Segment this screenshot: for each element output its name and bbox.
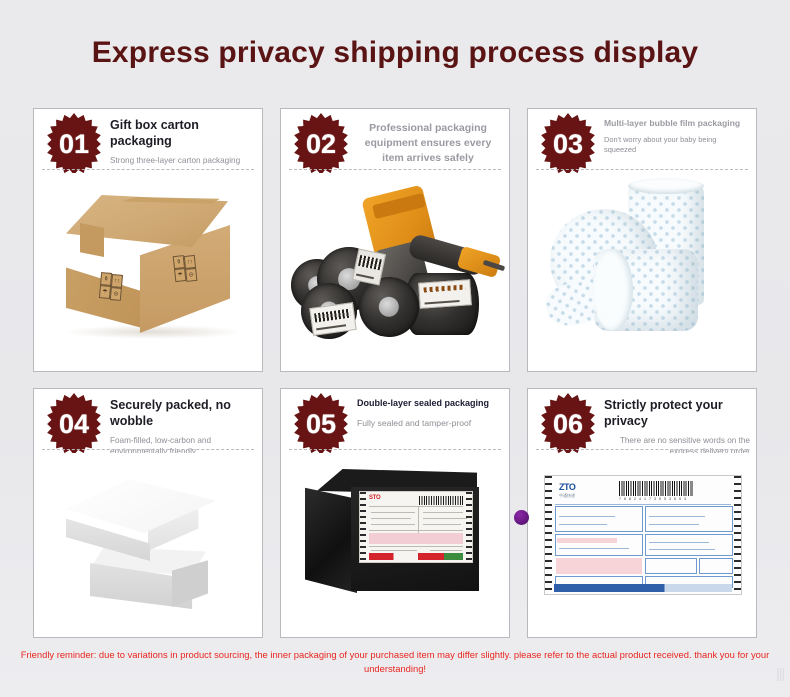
waybill-field-line — [559, 524, 607, 525]
product-photo-bubble-wrap — [528, 173, 756, 371]
header-divider — [289, 169, 501, 170]
barcode-icon — [314, 308, 350, 322]
waybill-perforation-right — [734, 476, 741, 594]
product-label — [309, 302, 356, 336]
footer-disclaimer: Friendly reminder: due to variations in … — [12, 648, 778, 675]
barcode-number: 7 6 8 2 4 1 7 3 5 5 3 6 5 3 — [619, 497, 687, 501]
carrier-logo-zto: ZTO — [559, 482, 575, 492]
coil-nail-roll — [359, 277, 419, 337]
waybill-rule — [555, 504, 731, 505]
waybill-field-line — [559, 516, 615, 517]
waybill-footer-band — [554, 584, 732, 592]
notice-band — [556, 558, 642, 574]
waybill-footer-band — [369, 553, 463, 560]
card-header: 03 Multi-layer bubble film packaging Don… — [528, 109, 756, 172]
waybill-rule — [369, 530, 463, 531]
foam-blocks-illustration — [52, 463, 248, 621]
card-header: 01 Gift box carton packaging Strong thre… — [34, 109, 262, 172]
product-photo-zto-waybill: ZTO 中通快递 7 6 8 2 4 1 7 3 5 5 3 6 5 3 — [528, 453, 756, 637]
card-subtitle: Don't worry about your baby being squeez… — [604, 135, 750, 155]
card-title: Strictly protect your privacy — [604, 398, 750, 429]
step-number-badge-05: 05 — [290, 393, 352, 455]
step-number-badge-01: 01 — [43, 113, 105, 175]
infographic-page: Express privacy shipping process display… — [0, 0, 790, 697]
card-title: Securely packed, no wobble — [110, 398, 256, 429]
waybill-perforation-left — [360, 492, 366, 562]
product-photo-carton-box: ⚱ ↑↑ ☂ ⊝ ⚱ ↑↑ ☂ ⊝ — [34, 173, 262, 371]
waybill-field-line — [649, 524, 699, 525]
label-line — [317, 325, 346, 331]
process-card-06[interactable]: 06 Strictly protect your privacy There a… — [527, 388, 757, 638]
card-title: Gift box carton packaging — [110, 118, 256, 149]
waybill-rule — [369, 506, 463, 507]
step-number-badge-03: 03 — [537, 113, 599, 175]
header-divider — [536, 169, 748, 170]
card-subtitle: Strong three-layer carton packaging — [110, 155, 256, 166]
step-number-label: 01 — [59, 131, 89, 158]
waybill-perforation-left — [545, 476, 552, 594]
waybill-field-line — [423, 518, 467, 519]
card-header: 04 Securely packed, no wobble Foam-fille… — [34, 389, 262, 452]
warning-highlight — [557, 538, 617, 543]
header-divider — [536, 449, 748, 450]
waybill-field-line — [371, 518, 411, 519]
nail-gun-illustration — [287, 185, 505, 357]
card-title: Multi-layer bubble film packaging — [604, 118, 750, 129]
receiver-address-box — [645, 534, 733, 556]
decorative-purple-dot — [514, 510, 529, 525]
waybill-field-line — [649, 516, 705, 517]
step-number-label: 02 — [306, 131, 336, 158]
carrier-name-cn: 中通快递 — [559, 493, 575, 499]
card-header-text: Multi-layer bubble film packaging Don't … — [604, 118, 750, 155]
black-parcel-illustration: STO — [301, 469, 491, 601]
card-title: Professional packaging equipment ensures… — [353, 121, 503, 167]
step-number-badge-02: 02 — [290, 113, 352, 175]
header-divider — [289, 449, 501, 450]
process-card-02[interactable]: 02 Professional packaging equipment ensu… — [280, 108, 510, 372]
waybill-field-line — [371, 524, 415, 525]
step-number-label: 03 — [553, 131, 583, 158]
process-card-03[interactable]: 03 Multi-layer bubble film packaging Don… — [527, 108, 757, 372]
product-photo-black-parcel: STO — [281, 453, 509, 637]
header-divider — [42, 449, 254, 450]
sender-field-box — [555, 506, 643, 532]
handling-symbols-left: ⚱ ↑↑ ☂ ⊝ — [99, 272, 123, 300]
card-header: 05 Double-layer sealed packaging Fully s… — [281, 389, 509, 452]
product-label — [418, 279, 472, 309]
step-number-label: 05 — [306, 411, 336, 438]
barcode-icon — [358, 255, 381, 270]
process-card-grid: 01 Gift box carton packaging Strong thre… — [33, 108, 757, 638]
service-options-box — [645, 558, 697, 574]
waybill-sto: STO — [359, 491, 473, 563]
waybill-field-line — [559, 548, 629, 549]
card-row-2: 04 Securely packed, no wobble Foam-fille… — [33, 388, 757, 638]
waybill-zto: ZTO 中通快递 7 6 8 2 4 1 7 3 5 5 3 6 5 3 — [544, 475, 742, 595]
box-flap — [80, 223, 104, 257]
waybill-field-line — [430, 550, 462, 551]
waybill-field-line — [423, 524, 461, 525]
waybill-notice-band — [369, 533, 463, 544]
coil-hub — [379, 297, 399, 317]
card-header-text: Professional packaging equipment ensures… — [353, 121, 503, 167]
no-stack-icon: ⊝ — [185, 268, 197, 282]
receiver-field-box — [645, 506, 733, 532]
page-title: Express privacy shipping process display — [0, 36, 790, 70]
card-header-text: Gift box carton packaging Strong three-l… — [110, 118, 256, 166]
bubble-roll-front — [594, 249, 698, 331]
waybill-perforation-right — [466, 492, 472, 562]
process-card-01[interactable]: 01 Gift box carton packaging Strong thre… — [33, 108, 263, 372]
bubble-wrap-illustration — [540, 179, 746, 361]
cardboard-box-illustration: ⚱ ↑↑ ☂ ⊝ ⚱ ↑↑ ☂ ⊝ — [48, 195, 248, 345]
roll-end-face — [593, 249, 633, 331]
product-photo-nail-gun — [281, 173, 509, 371]
barcode-icon — [419, 496, 463, 505]
label-line — [425, 300, 460, 304]
waybill-field-line — [423, 512, 463, 513]
process-card-04[interactable]: 04 Securely packed, no wobble Foam-fille… — [33, 388, 263, 638]
step-number-label: 04 — [59, 411, 89, 438]
waybill-field-line — [371, 512, 415, 513]
this-side-up-icon: ↑↑ — [184, 255, 196, 269]
watermark: ||| — [776, 665, 784, 681]
barcode-icon — [619, 481, 693, 496]
no-stack-icon: ⊝ — [110, 287, 122, 301]
step-number-badge-04: 04 — [43, 393, 105, 455]
this-side-up-icon: ↑↑ — [111, 274, 123, 288]
barcode-icon — [424, 285, 466, 293]
process-card-05[interactable]: 05 Double-layer sealed packaging Fully s… — [280, 388, 510, 638]
card-row-1: 01 Gift box carton packaging Strong thre… — [33, 108, 757, 372]
product-photo-foam-blocks — [34, 453, 262, 637]
card-subtitle: Fully sealed and tamper-proof — [357, 418, 503, 430]
card-header-text: Double-layer sealed packaging Fully seal… — [357, 398, 503, 430]
card-header: 02 Professional packaging equipment ensu… — [281, 109, 509, 172]
waybill-rule — [369, 546, 463, 547]
waybill-field-line — [649, 542, 709, 543]
card-header: 06 Strictly protect your privacy There a… — [528, 389, 756, 452]
parcel-left-face — [305, 481, 357, 593]
card-title: Double-layer sealed packaging — [357, 398, 503, 409]
header-divider — [42, 169, 254, 170]
step-number-badge-06: 06 — [537, 393, 599, 455]
roll-top-cap — [628, 178, 704, 194]
step-number-label: 06 — [553, 411, 583, 438]
label-line — [356, 273, 374, 279]
carrier-logo-sto: STO — [369, 495, 380, 501]
weight-box — [699, 558, 733, 574]
waybill-field-line — [649, 549, 715, 550]
handling-symbols-right: ⚱ ↑↑ ☂ ⊝ — [173, 254, 198, 282]
waybill-field-line — [371, 550, 417, 551]
